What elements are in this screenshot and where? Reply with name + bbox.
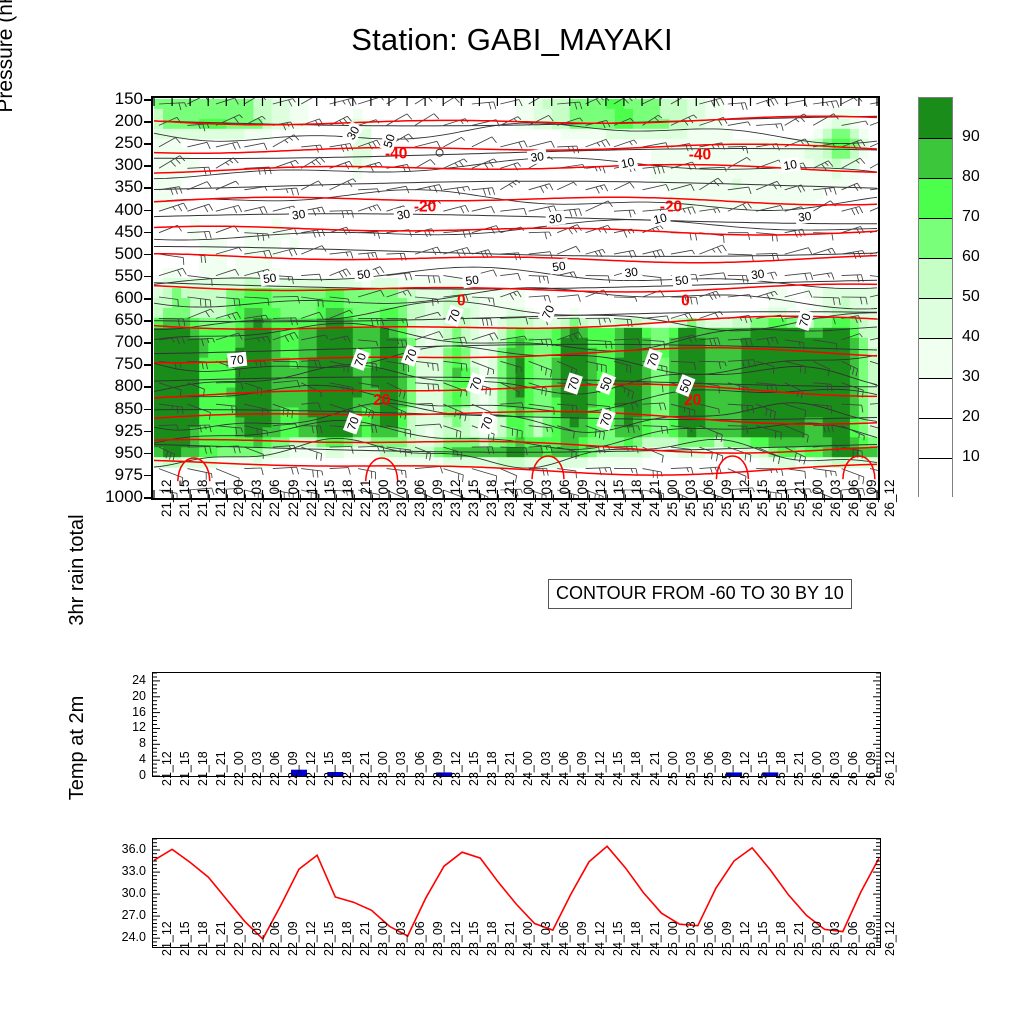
ytick-rain-label: 0 bbox=[116, 769, 146, 782]
xtick-label: 25_06 bbox=[702, 751, 716, 786]
ytick-pressure: 500 bbox=[97, 245, 143, 262]
xtick-label: 25_03 bbox=[684, 751, 698, 786]
main-xaxis-labels: 21_1221_1521_1821_2122_0022_0322_0622_09… bbox=[153, 517, 878, 587]
colorbar-band bbox=[919, 378, 952, 418]
xtick-label: 25_18 bbox=[774, 479, 789, 517]
xtick-label: 26_00 bbox=[810, 479, 825, 517]
xtick-label: 24_18 bbox=[629, 479, 644, 517]
contour-label: 20 bbox=[373, 392, 390, 409]
xtick-label: 26_03 bbox=[828, 479, 843, 517]
ytick-pressure: 400 bbox=[97, 201, 143, 218]
xtick-label: 25_12 bbox=[737, 479, 752, 517]
xtick-label: 24_18 bbox=[629, 921, 643, 956]
svg-text:30: 30 bbox=[750, 266, 765, 282]
xtick-label: 26_06 bbox=[846, 921, 860, 956]
colorbar-band bbox=[919, 258, 952, 298]
xtick-label: 26_09 bbox=[864, 751, 878, 786]
xtick-label: 21_12 bbox=[160, 751, 174, 786]
xtick-label: 25_12 bbox=[738, 751, 752, 786]
svg-text:50: 50 bbox=[356, 266, 371, 282]
xtick-label: 21_18 bbox=[195, 479, 210, 517]
xtick-label: 26_06 bbox=[846, 751, 860, 786]
xtick-label: 24_15 bbox=[611, 921, 625, 956]
xtick-label: 25_03 bbox=[683, 479, 698, 517]
xtick-label: 22_15 bbox=[322, 921, 336, 956]
ytick-pressure: 975 bbox=[97, 466, 143, 483]
xtick-label: 22_06 bbox=[267, 479, 282, 517]
contour-label: 30 bbox=[393, 206, 414, 223]
svg-text:30: 30 bbox=[291, 207, 306, 223]
xtick-label: 22_18 bbox=[340, 479, 355, 517]
xtick-label: 24_00 bbox=[521, 751, 535, 786]
contour-label: 50 bbox=[353, 266, 374, 283]
xtick-label: 21_18 bbox=[196, 751, 210, 786]
ytick-rain-label: 24 bbox=[116, 674, 146, 687]
xtick-label: 22_09 bbox=[286, 479, 301, 517]
colorbar-tick-label: 70 bbox=[962, 209, 980, 225]
xtick-label: 24_12 bbox=[593, 751, 607, 786]
colorbar-tick-label: 10 bbox=[962, 449, 980, 465]
xtick-label: 25_06 bbox=[701, 479, 716, 517]
contour-label: 30 bbox=[794, 208, 815, 225]
xtick-label: 22_12 bbox=[304, 921, 318, 956]
ytick-temp-label: 24.0 bbox=[104, 931, 146, 944]
xtick-label: 25_12 bbox=[738, 921, 752, 956]
xtick-label: 26_09 bbox=[864, 921, 878, 956]
colorbar-tick-label: 60 bbox=[962, 249, 980, 265]
ytick-rain-label: 4 bbox=[116, 753, 146, 766]
ytick-pressure: 450 bbox=[97, 223, 143, 240]
svg-text:50: 50 bbox=[262, 270, 277, 286]
xtick-label: 24_06 bbox=[557, 921, 571, 956]
xtick-label: 22_15 bbox=[322, 751, 336, 786]
xtick-label: 25_21 bbox=[792, 921, 806, 956]
ytick-pressure: 1000 bbox=[97, 488, 143, 505]
svg-text:0: 0 bbox=[457, 293, 466, 310]
xtick-label: 25_09 bbox=[720, 751, 734, 786]
main-yaxis-label: Pressure (hPa) bbox=[0, 0, 18, 222]
xtick-label: 26_12 bbox=[883, 921, 897, 956]
colorbar-band bbox=[919, 458, 952, 498]
contour-label: 10 bbox=[617, 154, 638, 172]
xtick-label: 23_21 bbox=[503, 921, 517, 956]
contour-label: 30 bbox=[288, 206, 309, 223]
xtick-label: 22_09 bbox=[286, 921, 300, 956]
ytick-rain-label: 16 bbox=[116, 706, 146, 719]
temp-xaxis-labels: 21_1221_1521_1821_2122_0022_0322_0622_09… bbox=[154, 956, 879, 1026]
xtick-label: 25_18 bbox=[774, 921, 788, 956]
cross-section-canvas: -40-40-20-200020203050301010303030103050… bbox=[153, 98, 878, 498]
xtick-label: 26_00 bbox=[810, 921, 824, 956]
xtick-label: 26_12 bbox=[883, 751, 897, 786]
xtick-label: 22_03 bbox=[250, 751, 264, 786]
contour-label: 0 bbox=[681, 293, 690, 310]
xtick-label: 22_03 bbox=[249, 479, 264, 517]
xtick-label: 22_21 bbox=[358, 921, 372, 956]
xtick-label: 25_15 bbox=[756, 921, 770, 956]
ytick-temp-label: 30.0 bbox=[104, 887, 146, 900]
xtick-label: 24_21 bbox=[648, 751, 662, 786]
xtick-label: 24_00 bbox=[521, 921, 535, 956]
svg-text:-40: -40 bbox=[689, 147, 711, 164]
colorbar[interactable] bbox=[918, 97, 953, 497]
xtick-label: 23_09 bbox=[431, 921, 445, 956]
xtick-label: 23_21 bbox=[503, 751, 517, 786]
contour-label: 30 bbox=[747, 266, 768, 283]
contour-label: 50 bbox=[462, 272, 483, 289]
xtick-label: 23_00 bbox=[376, 921, 390, 956]
xtick-label: 22_00 bbox=[231, 479, 246, 517]
xtick-label: 21_15 bbox=[177, 479, 192, 517]
xtick-label: 22_06 bbox=[268, 751, 282, 786]
xtick-label: 24_00 bbox=[521, 479, 536, 517]
ytick-pressure: 350 bbox=[97, 178, 143, 195]
colorbar-tick-label: 30 bbox=[962, 369, 980, 385]
ytick-pressure: 650 bbox=[97, 311, 143, 328]
xtick-label: 26_09 bbox=[864, 479, 879, 517]
ytick-pressure: 800 bbox=[97, 377, 143, 394]
xtick-label: 22_21 bbox=[358, 479, 373, 517]
contour-label: 0 bbox=[457, 293, 466, 310]
weather-sounding-page: Station: GABI_MAYAKI Pressure (hPa) 1502… bbox=[0, 0, 1024, 1024]
xtick-label: 24_12 bbox=[593, 479, 608, 517]
ytick-rain-label: 12 bbox=[116, 721, 146, 734]
ytick-pressure: 550 bbox=[97, 267, 143, 284]
xtick-label: 26_12 bbox=[882, 479, 897, 517]
xtick-label: 23_12 bbox=[449, 921, 463, 956]
xtick-label: 24_21 bbox=[647, 479, 662, 517]
xtick-label: 23_06 bbox=[413, 751, 427, 786]
xtick-label: 25_09 bbox=[719, 479, 734, 517]
xtick-label: 22_09 bbox=[286, 751, 300, 786]
xtick-label: 25_15 bbox=[755, 479, 770, 517]
xtick-label: 26_03 bbox=[828, 921, 842, 956]
xtick-label: 24_18 bbox=[629, 751, 643, 786]
xtick-label: 21_21 bbox=[214, 921, 228, 956]
xtick-label: 23_06 bbox=[413, 921, 427, 956]
contour-label: 30 bbox=[527, 148, 548, 165]
ytick-pressure: 250 bbox=[97, 134, 143, 151]
xtick-label: 21_18 bbox=[196, 921, 210, 956]
xtick-label: 25_03 bbox=[684, 921, 698, 956]
xtick-label: 25_18 bbox=[774, 751, 788, 786]
xtick-label: 21_12 bbox=[159, 479, 174, 517]
xtick-label: 21_12 bbox=[160, 921, 174, 956]
xtick-label: 24_15 bbox=[611, 479, 626, 517]
svg-text:50: 50 bbox=[465, 272, 480, 288]
colorbar-tick-label: 50 bbox=[962, 289, 980, 305]
svg-text:70: 70 bbox=[230, 352, 245, 367]
xtick-label: 23_03 bbox=[394, 479, 409, 517]
svg-text:30: 30 bbox=[396, 207, 412, 223]
colorbar-band bbox=[919, 98, 952, 138]
xtick-label: 24_09 bbox=[575, 921, 589, 956]
colorbar-band bbox=[919, 178, 952, 218]
colorbar-tick-label: 40 bbox=[962, 329, 980, 345]
xtick-label: 25_21 bbox=[792, 479, 807, 517]
xtick-label: 23_00 bbox=[376, 751, 390, 786]
xtick-label: 22_03 bbox=[250, 921, 264, 956]
xtick-label: 25_00 bbox=[665, 479, 680, 517]
ytick-temp-label: 27.0 bbox=[104, 909, 146, 922]
svg-text:50: 50 bbox=[674, 272, 689, 288]
xtick-label: 22_12 bbox=[304, 751, 318, 786]
page-title: Station: GABI_MAYAKI bbox=[0, 22, 1024, 58]
xtick-label: 24_03 bbox=[539, 479, 554, 517]
xtick-label: 25_09 bbox=[720, 921, 734, 956]
xtick-label: 26_06 bbox=[846, 479, 861, 517]
svg-text:30: 30 bbox=[624, 264, 639, 280]
xtick-label: 24_06 bbox=[557, 751, 571, 786]
contour-note: CONTOUR FROM -60 TO 30 BY 10 bbox=[548, 579, 852, 609]
rain-yaxis-label: 3hr rain total bbox=[66, 485, 89, 655]
ytick-pressure: 925 bbox=[97, 422, 143, 439]
xtick-label: 23_18 bbox=[484, 479, 499, 517]
ytick-temp-label: 36.0 bbox=[104, 843, 146, 856]
svg-text:0: 0 bbox=[681, 293, 690, 310]
svg-text:30: 30 bbox=[797, 209, 812, 225]
xtick-label: 24_21 bbox=[648, 921, 662, 956]
xtick-label: 23_09 bbox=[430, 479, 445, 517]
ytick-pressure: 300 bbox=[97, 156, 143, 173]
xtick-label: 21_15 bbox=[178, 751, 192, 786]
xtick-label: 23_06 bbox=[412, 479, 427, 517]
xtick-label: 25_21 bbox=[792, 751, 806, 786]
ytick-pressure: 150 bbox=[97, 90, 143, 107]
colorbar-band bbox=[919, 298, 952, 338]
xtick-label: 22_15 bbox=[322, 479, 337, 517]
xtick-label: 21_15 bbox=[178, 921, 192, 956]
ytick-pressure: 200 bbox=[97, 112, 143, 129]
ytick-pressure: 850 bbox=[97, 400, 143, 417]
xtick-label: 22_18 bbox=[340, 921, 354, 956]
xtick-label: 23_18 bbox=[485, 751, 499, 786]
contour-label: 30 bbox=[545, 210, 566, 227]
colorbar-band bbox=[919, 138, 952, 178]
xtick-label: 24_15 bbox=[611, 751, 625, 786]
contour-label: 30 bbox=[621, 264, 642, 281]
contour-label: 50 bbox=[259, 270, 280, 287]
xtick-label: 23_00 bbox=[376, 479, 391, 517]
xtick-label: 24_09 bbox=[575, 751, 589, 786]
colorbar-tick-label: 80 bbox=[962, 169, 980, 185]
ytick-pressure: 750 bbox=[97, 355, 143, 372]
xtick-label: 23_15 bbox=[467, 751, 481, 786]
contour-label: 10 bbox=[649, 209, 671, 227]
ytick-pressure: 950 bbox=[97, 444, 143, 461]
colorbar-tick-label: 90 bbox=[962, 129, 980, 145]
ytick-temp-label: 33.0 bbox=[104, 865, 146, 878]
svg-text:30: 30 bbox=[530, 149, 545, 165]
xtick-label: 23_21 bbox=[502, 479, 517, 517]
xtick-label: 23_12 bbox=[449, 751, 463, 786]
xtick-label: 22_21 bbox=[358, 751, 372, 786]
xtick-label: 22_12 bbox=[304, 479, 319, 517]
colorbar-band bbox=[919, 338, 952, 378]
cross-section-plot[interactable]: -40-40-20-200020203050301010303030103050… bbox=[151, 96, 880, 500]
xtick-label: 24_03 bbox=[539, 921, 553, 956]
svg-text:20: 20 bbox=[373, 392, 390, 409]
xtick-label: 23_15 bbox=[466, 479, 481, 517]
xtick-label: 22_18 bbox=[340, 751, 354, 786]
xtick-label: 24_03 bbox=[539, 751, 553, 786]
xtick-label: 21_21 bbox=[214, 751, 228, 786]
xtick-label: 26_00 bbox=[810, 751, 824, 786]
svg-text:-20: -20 bbox=[414, 198, 436, 215]
contour-label: 50 bbox=[549, 258, 570, 275]
xtick-label: 24_09 bbox=[575, 479, 590, 517]
colorbar-tick-label: 20 bbox=[962, 409, 980, 425]
xtick-label: 25_00 bbox=[666, 921, 680, 956]
xtick-label: 22_00 bbox=[232, 751, 246, 786]
colorbar-band bbox=[919, 218, 952, 258]
xtick-label: 21_21 bbox=[213, 479, 228, 517]
ytick-pressure: 700 bbox=[97, 333, 143, 350]
svg-text:10: 10 bbox=[782, 157, 798, 173]
ytick-rain-label: 8 bbox=[116, 737, 146, 750]
xtick-label: 23_03 bbox=[394, 921, 408, 956]
xtick-label: 23_09 bbox=[431, 751, 445, 786]
xtick-label: 22_06 bbox=[268, 921, 282, 956]
ytick-rain-label: 20 bbox=[116, 690, 146, 703]
colorbar-band bbox=[919, 418, 952, 458]
xtick-label: 23_12 bbox=[448, 479, 463, 517]
xtick-label: 23_03 bbox=[394, 751, 408, 786]
svg-text:50: 50 bbox=[551, 259, 566, 275]
ytick-pressure: 600 bbox=[97, 289, 143, 306]
xtick-label: 25_15 bbox=[756, 751, 770, 786]
xtick-label: 24_12 bbox=[593, 921, 607, 956]
xtick-label: 24_06 bbox=[557, 479, 572, 517]
contour-label: -20 bbox=[414, 198, 436, 215]
xtick-label: 23_15 bbox=[467, 921, 481, 956]
xtick-label: 23_18 bbox=[485, 921, 499, 956]
xtick-label: 25_06 bbox=[702, 921, 716, 956]
svg-text:30: 30 bbox=[548, 211, 563, 227]
contour-label: 50 bbox=[672, 272, 693, 289]
xtick-label: 22_00 bbox=[232, 921, 246, 956]
contour-label: 70 bbox=[227, 352, 247, 368]
xtick-label: 25_00 bbox=[666, 751, 680, 786]
contour-label: -40 bbox=[689, 147, 711, 164]
xtick-label: 26_03 bbox=[828, 751, 842, 786]
temp-yaxis-label: Temp at 2m bbox=[66, 668, 89, 828]
